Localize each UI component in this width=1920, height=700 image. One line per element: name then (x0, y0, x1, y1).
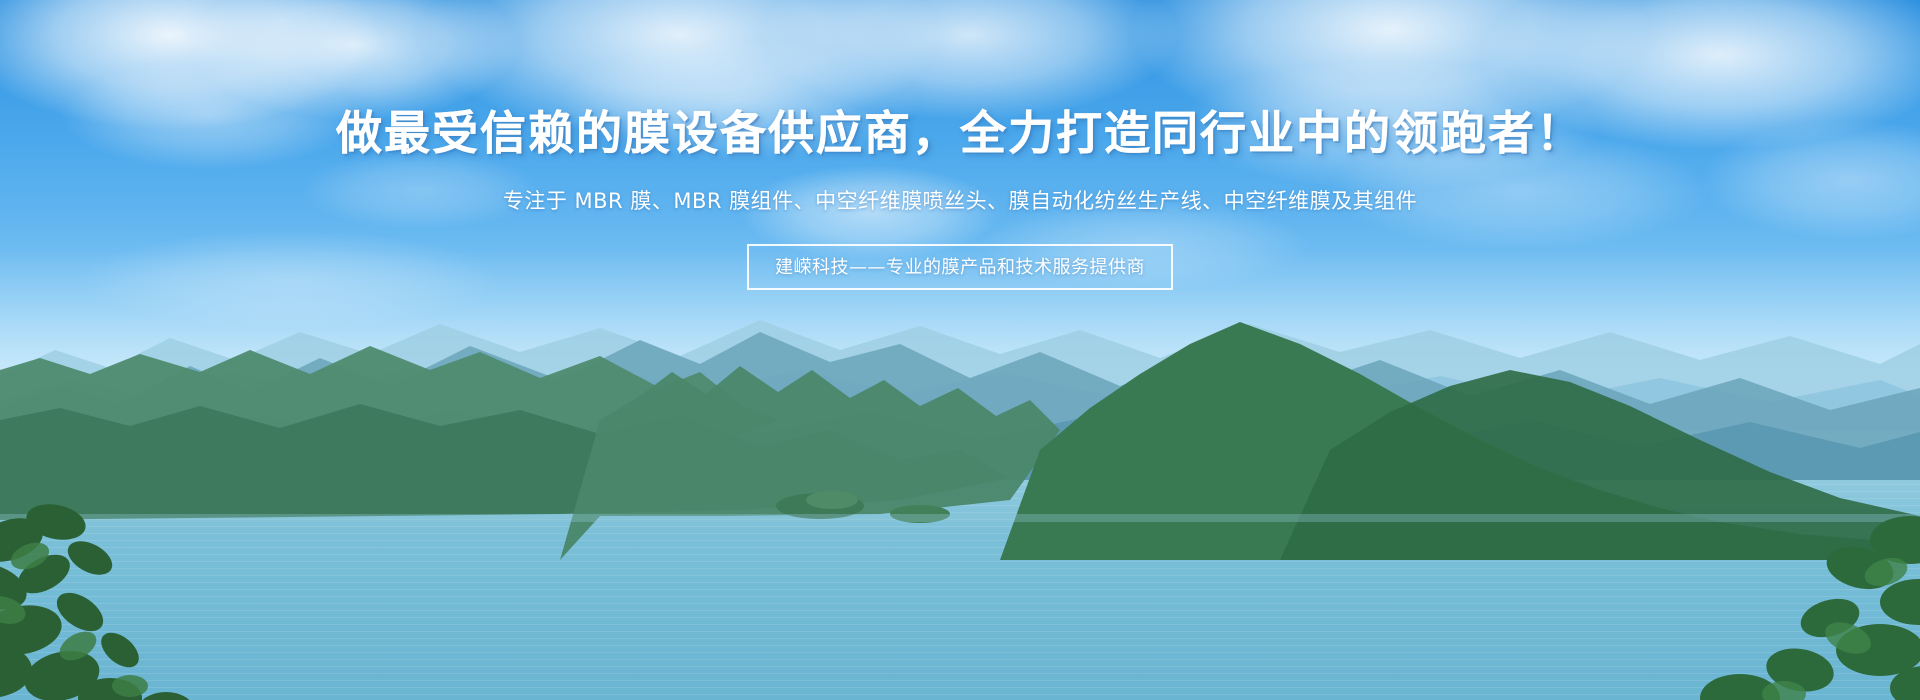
banner-tagline-wrap: 建嵘科技——专业的膜产品和技术服务提供商 (0, 244, 1920, 290)
banner-text-overlay: 做最受信赖的膜设备供应商，全力打造同行业中的领跑者！ 专注于 MBR 膜、MBR… (0, 0, 1920, 700)
banner-headline: 做最受信赖的膜设备供应商，全力打造同行业中的领跑者！ (0, 97, 1920, 163)
banner-tagline-box: 建嵘科技——专业的膜产品和技术服务提供商 (747, 244, 1173, 290)
banner-subtitle: 专注于 MBR 膜、MBR 膜组件、中空纤维膜喷丝头、膜自动化纺丝生产线、中空纤… (0, 185, 1920, 215)
hero-banner: 做最受信赖的膜设备供应商，全力打造同行业中的领跑者！ 专注于 MBR 膜、MBR… (0, 0, 1920, 700)
